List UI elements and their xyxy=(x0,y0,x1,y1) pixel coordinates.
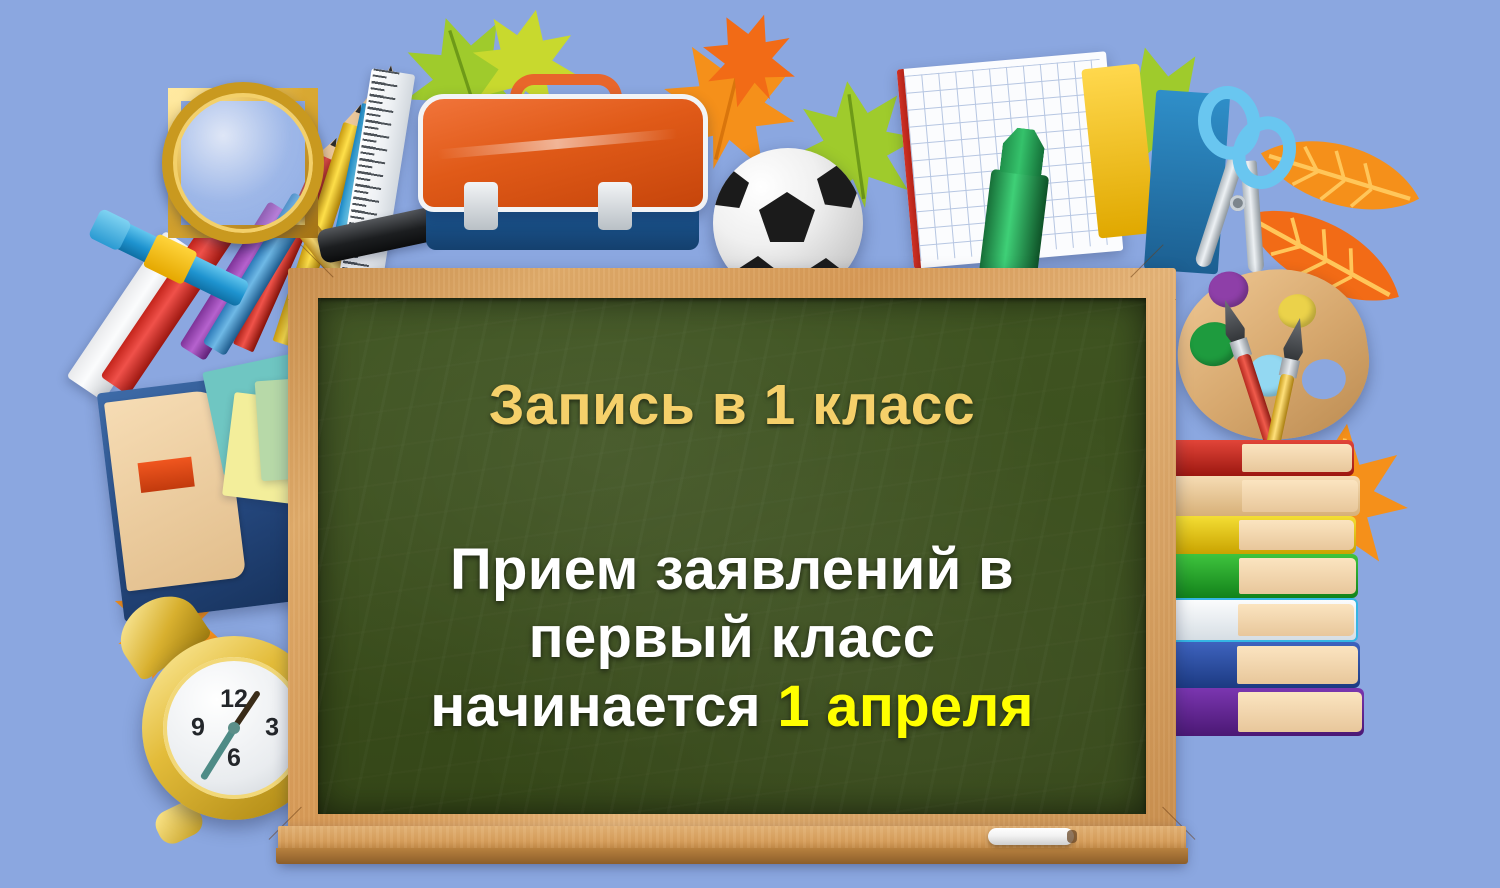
book-icon xyxy=(1150,688,1364,736)
book-stack xyxy=(1160,440,1370,860)
announcement-line-1: Прием заявлений в xyxy=(378,536,1086,604)
book-icon xyxy=(1152,642,1360,688)
chalkboard-slate: Запись в 1 класс Прием заявлений в первы… xyxy=(318,298,1146,814)
announcement-line-2: первый класс xyxy=(378,604,1086,672)
book-icon xyxy=(1158,516,1356,554)
board-text-block: Запись в 1 класс Прием заявлений в первы… xyxy=(378,376,1086,741)
book-icon xyxy=(1154,598,1358,642)
book-icon xyxy=(1164,440,1354,476)
orange-satchel-icon xyxy=(418,78,708,250)
announcement-line-3-prefix: начинается xyxy=(430,674,777,739)
announcement-date-highlight: 1 апреля xyxy=(777,674,1033,739)
clock-number-9: 9 xyxy=(191,714,205,743)
chalk-stick-icon xyxy=(988,828,1074,845)
poster-canvas: 12 3 6 9 Запись в 1 класс Прием заявле xyxy=(0,0,1500,888)
clock-number-3: 3 xyxy=(265,714,279,743)
magnifier-ring-icon xyxy=(162,82,324,244)
pen-cap xyxy=(88,208,133,252)
scissors-icon xyxy=(1182,83,1311,283)
announcement-line-3: начинается 1 апреля xyxy=(378,673,1086,741)
book-icon xyxy=(1160,476,1360,516)
chalkboard: Запись в 1 класс Прием заявлений в первы… xyxy=(288,268,1176,848)
page-title: Запись в 1 класс xyxy=(378,376,1086,436)
announcement-text: Прием заявлений в первый класс начинаетс… xyxy=(378,536,1086,741)
clock-number-6: 6 xyxy=(227,744,241,773)
book-icon xyxy=(1156,554,1358,598)
